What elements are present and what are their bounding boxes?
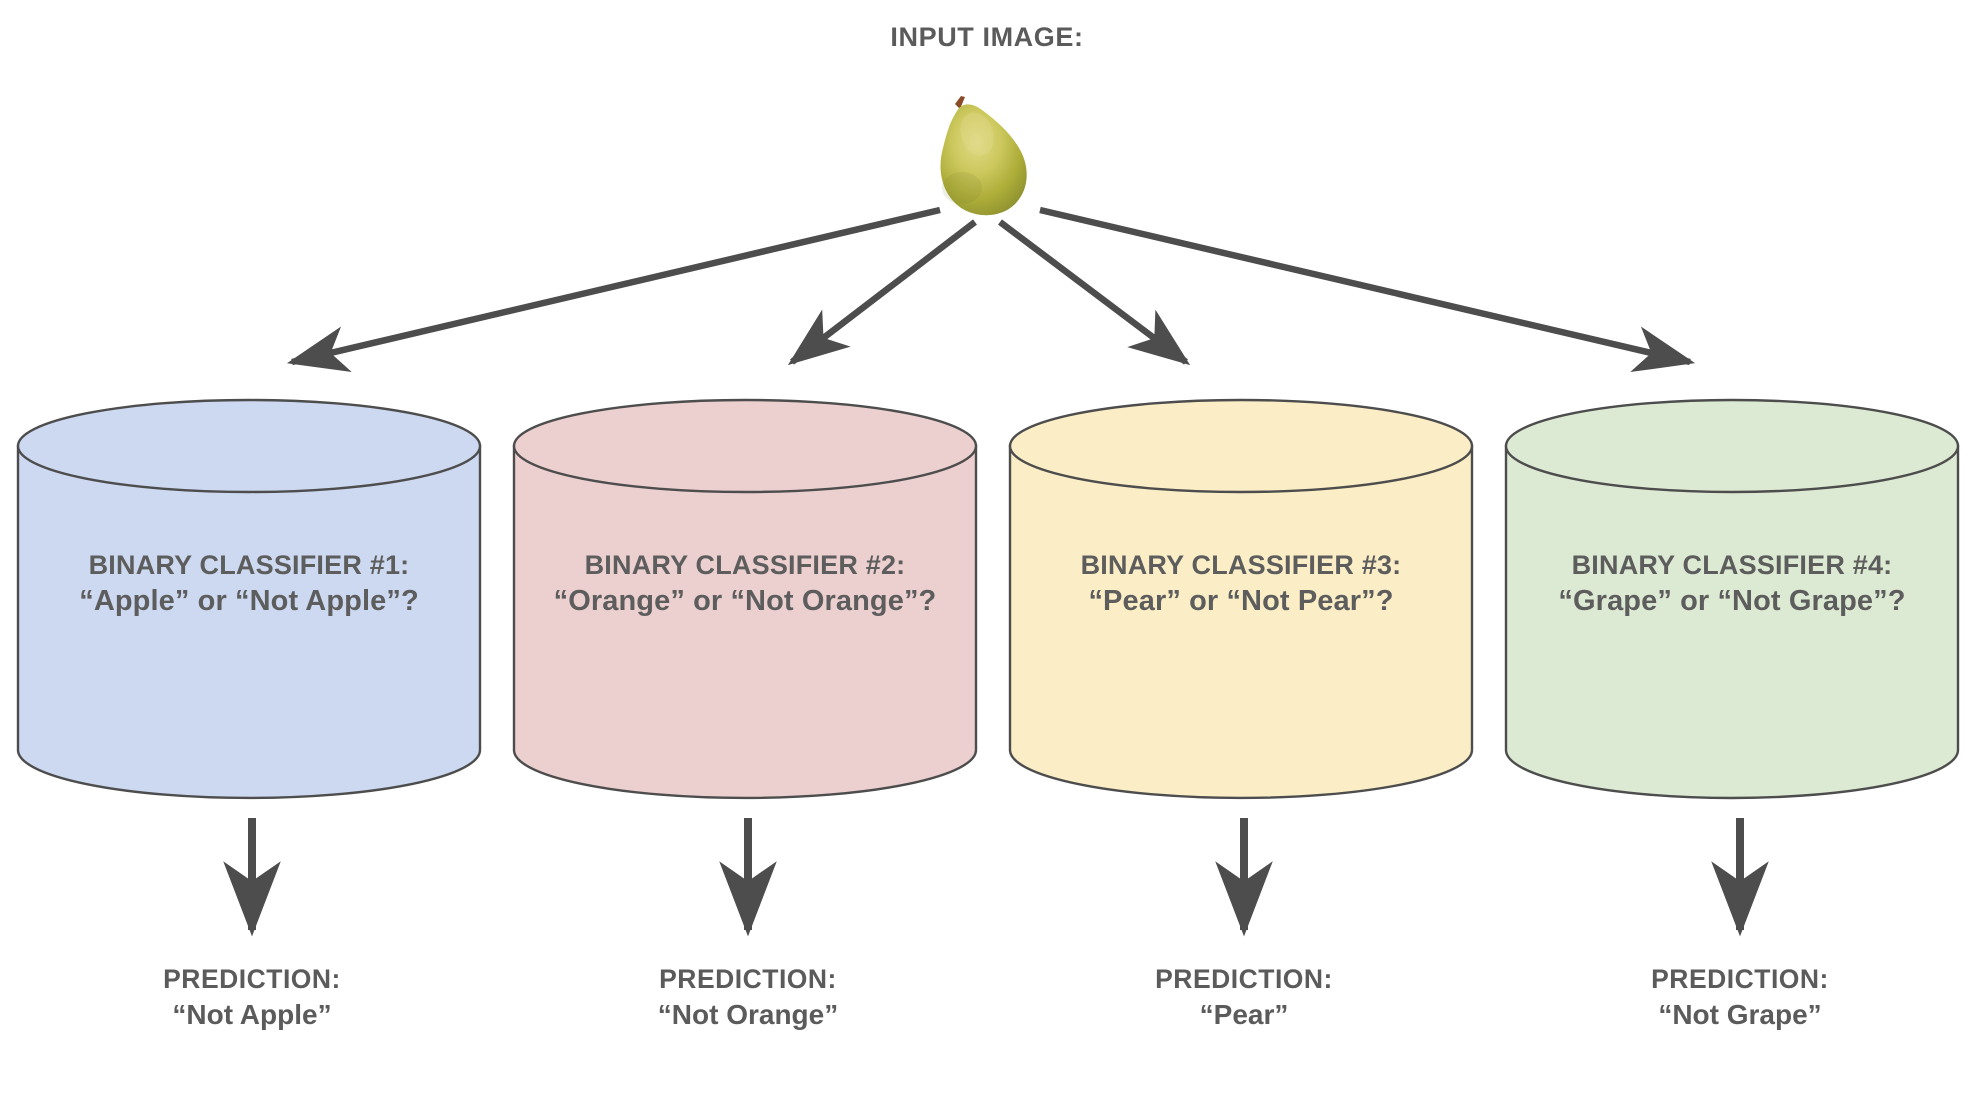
prediction-1: PREDICTION: “Not Apple” <box>42 962 462 1034</box>
prediction-3-value: “Pear” <box>1034 997 1454 1034</box>
prediction-4-label: PREDICTION: <box>1530 962 1950 997</box>
prediction-2-value: “Not Orange” <box>538 997 958 1034</box>
classifier-2-title: BINARY CLASSIFIER #2: <box>512 548 978 583</box>
classifier-4-question: “Grape” or “Not Grape”? <box>1504 583 1960 621</box>
cylinder-body-1 <box>18 446 480 798</box>
arrow-to-classifier-4 <box>1040 210 1690 362</box>
pear-icon <box>902 88 1070 220</box>
cylinder-top-4 <box>1506 400 1958 492</box>
classifier-cylinder-3[interactable]: BINARY CLASSIFIER #3: “Pear” or “Not Pea… <box>1008 398 1474 804</box>
prediction-1-label: PREDICTION: <box>42 962 462 997</box>
classifier-3-title: BINARY CLASSIFIER #3: <box>1008 548 1474 583</box>
input-image-pear <box>902 88 1070 220</box>
classifier-2-question: “Orange” or “Not Orange”? <box>512 583 978 621</box>
classifier-4-text: BINARY CLASSIFIER #4: “Grape” or “Not Gr… <box>1504 548 1960 621</box>
prediction-2: PREDICTION: “Not Orange” <box>538 962 958 1034</box>
classifier-2-text: BINARY CLASSIFIER #2: “Orange” or “Not O… <box>512 548 978 621</box>
classifier-1-text: BINARY CLASSIFIER #1: “Apple” or “Not Ap… <box>16 548 482 621</box>
diagram-canvas: INPUT IMAGE: <box>0 0 1974 1100</box>
cylinder-body-3 <box>1010 446 1472 798</box>
classifier-3-text: BINARY CLASSIFIER #3: “Pear” or “Not Pea… <box>1008 548 1474 621</box>
prediction-4-value: “Not Grape” <box>1530 997 1950 1034</box>
prediction-3: PREDICTION: “Pear” <box>1034 962 1454 1034</box>
page-title: INPUT IMAGE: <box>0 22 1974 53</box>
cylinder-top-2 <box>514 400 976 492</box>
classifier-cylinder-2[interactable]: BINARY CLASSIFIER #2: “Orange” or “Not O… <box>512 398 978 804</box>
arrow-to-classifier-2 <box>792 222 975 362</box>
classifier-3-question: “Pear” or “Not Pear”? <box>1008 583 1474 621</box>
cylinder-body-2 <box>514 446 976 798</box>
prediction-1-value: “Not Apple” <box>42 997 462 1034</box>
arrow-to-classifier-3 <box>1000 222 1186 362</box>
cylinder-top-1 <box>18 400 480 492</box>
classifier-cylinder-1[interactable]: BINARY CLASSIFIER #1: “Apple” or “Not Ap… <box>16 398 482 804</box>
arrow-to-classifier-1 <box>292 210 940 362</box>
prediction-2-label: PREDICTION: <box>538 962 958 997</box>
classifier-cylinder-4[interactable]: BINARY CLASSIFIER #4: “Grape” or “Not Gr… <box>1504 398 1960 804</box>
classifier-1-question: “Apple” or “Not Apple”? <box>16 583 482 621</box>
cylinder-top-3 <box>1010 400 1472 492</box>
prediction-3-label: PREDICTION: <box>1034 962 1454 997</box>
cylinder-body-4 <box>1506 446 1958 798</box>
prediction-4: PREDICTION: “Not Grape” <box>1530 962 1950 1034</box>
classifier-4-title: BINARY CLASSIFIER #4: <box>1504 548 1960 583</box>
classifier-1-title: BINARY CLASSIFIER #1: <box>16 548 482 583</box>
